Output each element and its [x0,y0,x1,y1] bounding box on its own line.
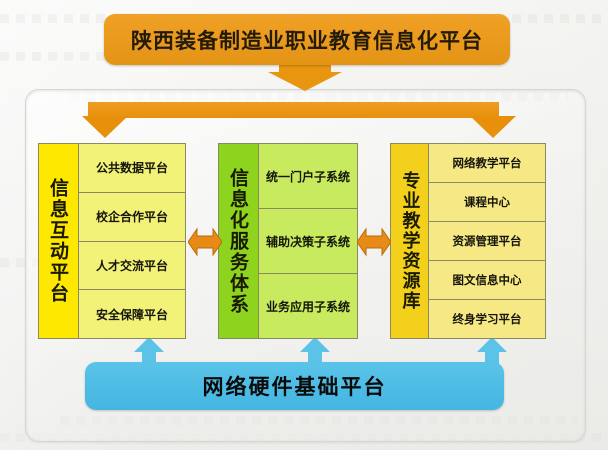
list-item[interactable]: 公共数据平台 [79,144,185,193]
list-item[interactable]: 校企合作平台 [79,193,185,242]
base-platform-label: 网络硬件基础平台 [203,371,387,401]
column-information-interaction-platform[interactable]: 信息互动平台 公共数据平台 校企合作平台 人才交流平台 安全保障平台 [38,143,186,339]
column-item-list: 网络教学平台 课程中心 资源管理平台 图文信息中心 终身学习平台 [429,144,545,338]
column-header-label: 信息互动平台 [39,144,79,338]
distribution-down-arrow-right-icon [470,116,516,138]
column-item-list: 统一门户子系统 辅助决策子系统 业务应用子系统 [259,144,357,338]
list-item[interactable]: 课程中心 [429,183,545,222]
list-item[interactable]: 网络教学平台 [429,144,545,183]
column-header-label: 信息化服务体系 [219,144,259,338]
distribution-down-arrow-left-icon [82,116,128,138]
list-item[interactable]: 图文信息中心 [429,261,545,300]
list-item[interactable]: 辅助决策子系统 [259,209,357,274]
bidirectional-arrow-left-icon [188,224,222,260]
list-item[interactable]: 终身学习平台 [429,300,545,338]
distribution-bar [88,102,499,118]
page-title: 陕西装备制造业职业教育信息化平台 [131,25,483,55]
list-item[interactable]: 业务应用子系统 [259,274,357,338]
platform-title-block: 陕西装备制造业职业教育信息化平台 [104,14,510,65]
list-item[interactable]: 人才交流平台 [79,242,185,291]
column-item-list: 公共数据平台 校企合作平台 人才交流平台 安全保障平台 [79,144,185,338]
bidirectional-arrow-right-icon [357,224,391,260]
column-professional-teaching-resource-library[interactable]: 专业教学资源库 网络教学平台 课程中心 资源管理平台 图文信息中心 终身学习平台 [390,143,546,339]
network-hardware-base-platform-block: 网络硬件基础平台 [85,362,504,410]
column-informationization-service-system[interactable]: 信息化服务体系 统一门户子系统 辅助决策子系统 业务应用子系统 [218,143,358,339]
list-item[interactable]: 资源管理平台 [429,222,545,261]
list-item[interactable]: 统一门户子系统 [259,144,357,209]
title-down-arrow-head-icon [268,72,342,91]
diagram-canvas: 陕西装备制造业职业教育信息化平台 信息互动平台 公共数据平台 校企合作平台 人才… [0,0,608,450]
list-item[interactable]: 安全保障平台 [79,290,185,338]
column-header-label: 专业教学资源库 [391,144,429,338]
